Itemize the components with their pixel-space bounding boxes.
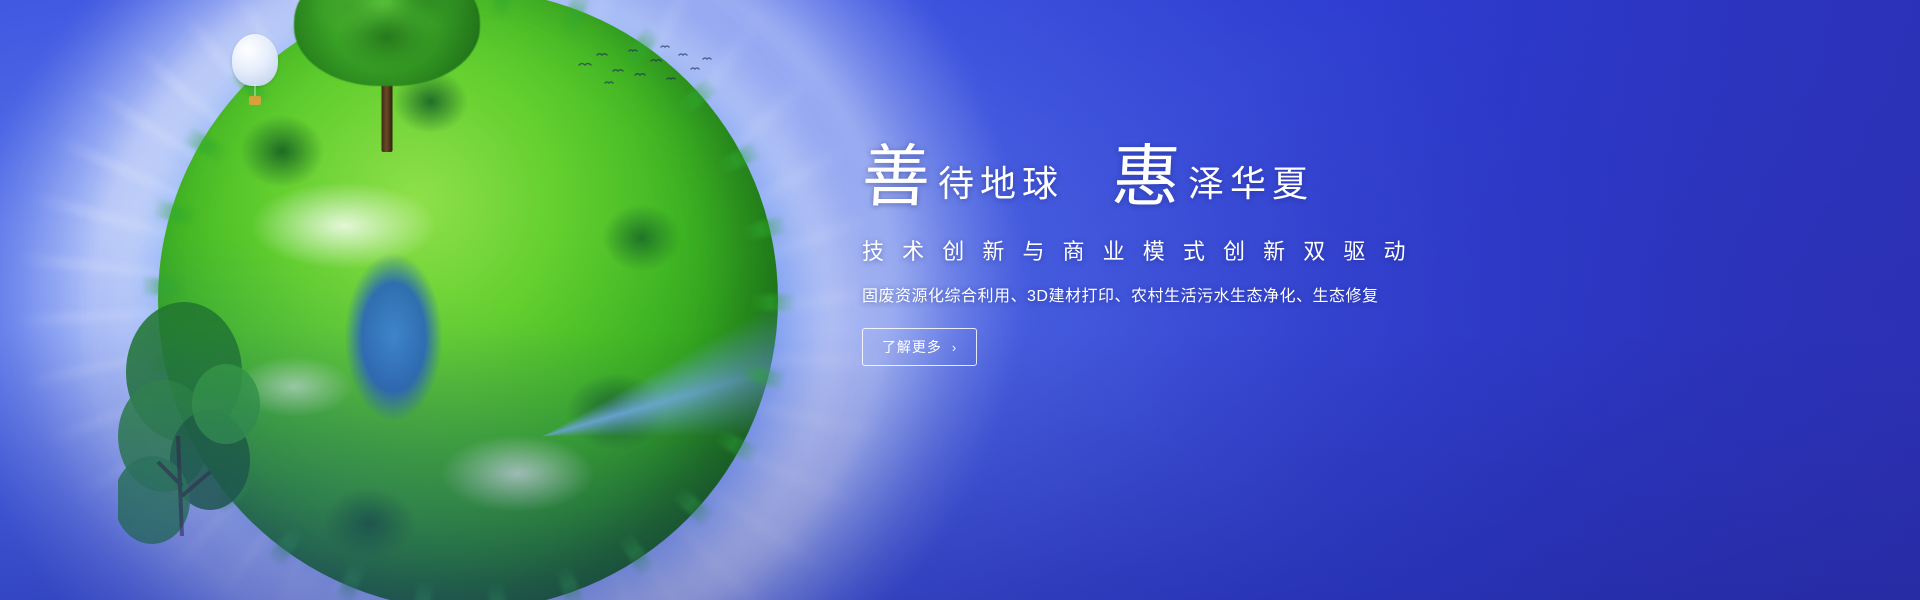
balloon-basket (249, 96, 261, 105)
hero-subtitle: 技 术 创 新 与 商 业 模 式 创 新 双 驱 动 (862, 234, 1382, 266)
hot-air-balloon (232, 34, 278, 108)
bird-flock (575, 45, 715, 91)
balloon-envelope (232, 34, 278, 86)
headline-emphasis-1: 善 (860, 144, 932, 212)
learn-more-button[interactable]: 了解更多 › (862, 328, 977, 366)
hero-copy: 善 待地球 惠 泽华夏 技 术 创 新 与 商 业 模 式 创 新 双 驱 动 … (862, 130, 1382, 366)
tree-canopy (294, 0, 480, 86)
learn-more-label: 了解更多 (882, 337, 942, 357)
hero-banner: 善 待地球 惠 泽华夏 技 术 创 新 与 商 业 模 式 创 新 双 驱 动 … (0, 0, 1920, 600)
hero-description: 固废资源化综合利用、3D建材打印、农村生活污水生态净化、生态修复 (862, 282, 1382, 306)
headline-rest-2: 泽华夏 (1188, 167, 1314, 203)
chevron-right-icon: › (952, 340, 957, 355)
foreground-trees (118, 286, 388, 546)
page-title: 善 待地球 惠 泽华夏 (862, 130, 1382, 212)
headline-emphasis-2: 惠 (1110, 144, 1182, 212)
large-tree (292, 0, 482, 152)
headline-rest-1: 待地球 (938, 167, 1064, 203)
